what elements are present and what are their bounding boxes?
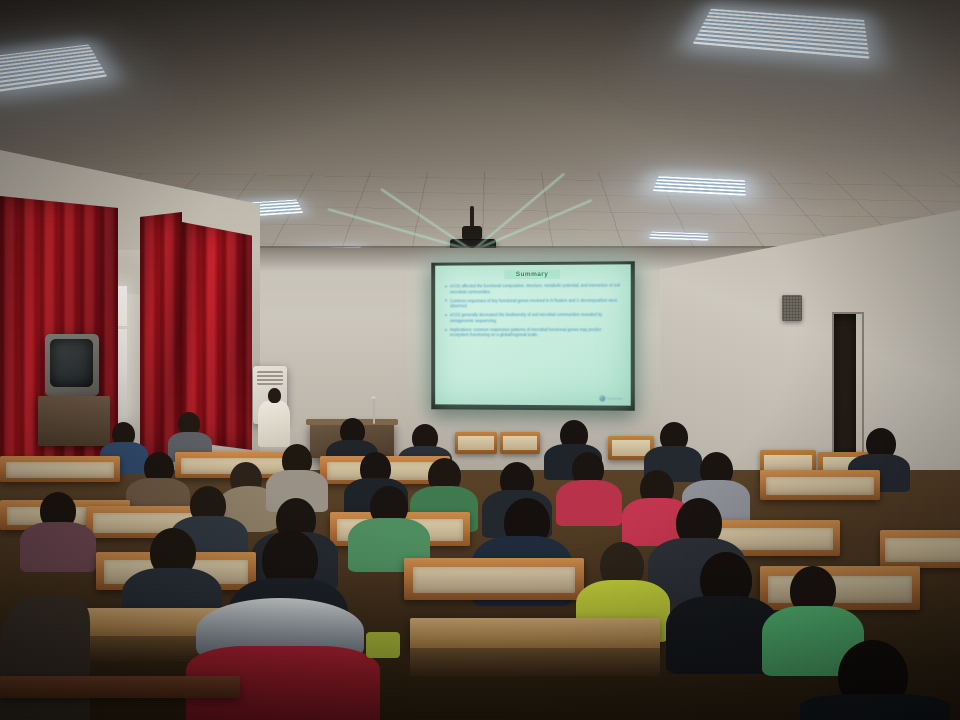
projection-screen-surface: Summary eCO2 affected the functional com… bbox=[435, 264, 631, 405]
desk-rail-near bbox=[0, 676, 240, 698]
bench-row bbox=[880, 530, 960, 568]
microphone bbox=[371, 396, 376, 399]
presentation-slide: Summary eCO2 affected the functional com… bbox=[435, 264, 631, 405]
slide-logo-text: University bbox=[607, 396, 622, 400]
slide-bullet: eCO2 affected the functional composition… bbox=[444, 283, 622, 295]
slide-bullet: eCO2 generally decreased the biodiversit… bbox=[444, 312, 622, 324]
bench-row bbox=[404, 558, 584, 600]
desk-front-panel bbox=[410, 648, 660, 676]
bench-row bbox=[760, 566, 920, 610]
wall-mounted-speaker bbox=[782, 295, 802, 321]
audience-body bbox=[20, 522, 96, 572]
side-exit-door[interactable] bbox=[834, 314, 856, 460]
green-bag bbox=[366, 632, 400, 658]
television-stand bbox=[38, 396, 110, 446]
projector-mount-rod bbox=[470, 206, 474, 228]
slide-bullet-list: eCO2 affected the functional composition… bbox=[442, 283, 624, 342]
audience-body bbox=[556, 480, 622, 526]
audience-body bbox=[800, 694, 950, 720]
slide-bullet: Common responses of key functional genes… bbox=[444, 297, 622, 309]
slide-logo: University bbox=[599, 395, 622, 401]
projector-bracket bbox=[462, 226, 482, 240]
foreground-figure-left bbox=[0, 596, 90, 720]
projection-screen: Summary eCO2 affected the functional com… bbox=[431, 261, 635, 411]
bench-row bbox=[0, 456, 120, 482]
microphone-stand bbox=[373, 398, 375, 424]
curtain-middle bbox=[140, 212, 182, 462]
presenter-head bbox=[268, 388, 281, 403]
chair-back bbox=[500, 432, 540, 454]
chair-back bbox=[455, 432, 497, 454]
presenter-body bbox=[258, 401, 290, 447]
slide-bullet: Implications: common responsive patterns… bbox=[444, 327, 622, 338]
air-conditioner-grille bbox=[257, 371, 283, 385]
crt-television-screen bbox=[50, 339, 93, 387]
lecture-hall-photo: Summary eCO2 affected the functional com… bbox=[0, 0, 960, 720]
desk-row bbox=[410, 618, 660, 650]
bench-row bbox=[760, 470, 880, 500]
slide-title: Summary bbox=[504, 270, 560, 279]
university-seal-icon bbox=[599, 395, 605, 401]
